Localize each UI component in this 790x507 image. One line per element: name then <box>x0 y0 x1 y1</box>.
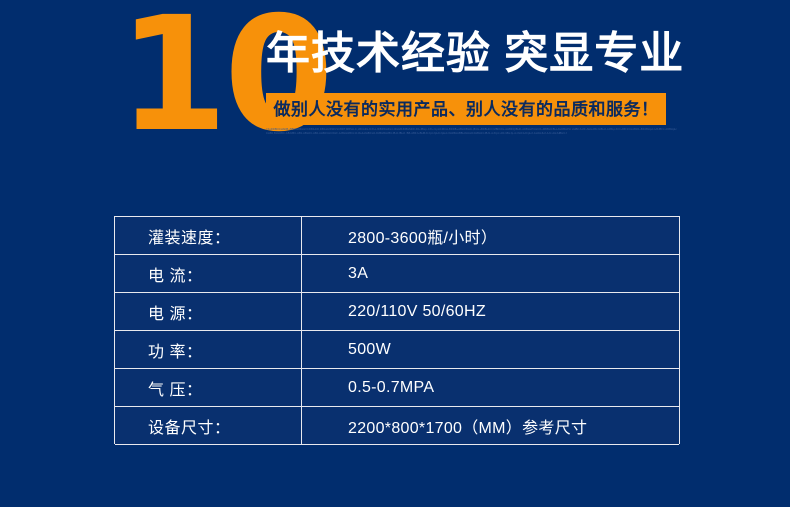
decorative-microtext: ClieDDBOCHADB+BBRADBHHVCDBIHOF,DBGHUDWUS… <box>266 128 678 144</box>
spec-value: 500W <box>302 331 679 368</box>
table-row: 功 率： 500W <box>115 331 679 369</box>
subtitle-text: 做别人没有的实用产品、别人没有的品质和服务！ <box>274 101 659 118</box>
spec-value: 220/110V 50/60HZ <box>302 293 679 330</box>
spec-value: 3A <box>302 255 679 292</box>
subtitle-banner: 做别人没有的实用产品、别人没有的品质和服务！ <box>266 93 666 125</box>
spec-table: 灌装速度： 2800-3600瓶/小时） 电 流： 3A 电 源： 220/11… <box>114 216 680 444</box>
table-row: 灌装速度： 2800-3600瓶/小时） <box>115 217 679 255</box>
spec-label: 灌装速度： <box>115 217 302 254</box>
table-row: 设备尺寸： 2200*800*1700（MM）参考尺寸 <box>115 407 679 445</box>
headline-text: 年技术经验 突显专业 <box>266 28 678 80</box>
spec-label: 设备尺寸： <box>115 407 302 444</box>
product-spec-banner: 10 年技术经验 突显专业 做别人没有的实用产品、别人没有的品质和服务！ Cli… <box>0 0 790 507</box>
spec-value: 2200*800*1700（MM）参考尺寸 <box>302 407 679 444</box>
table-row: 气 压： 0.5-0.7MPA <box>115 369 679 407</box>
spec-value: 2800-3600瓶/小时） <box>302 217 679 254</box>
spec-label: 功 率： <box>115 331 302 368</box>
hero-header: 10 年技术经验 突显专业 做别人没有的实用产品、别人没有的品质和服务！ Cli… <box>0 0 790 175</box>
table-row: 电 源： 220/110V 50/60HZ <box>115 293 679 331</box>
table-row: 电 流： 3A <box>115 255 679 293</box>
spec-value: 0.5-0.7MPA <box>302 369 679 406</box>
spec-label: 电 源： <box>115 293 302 330</box>
spec-label: 电 流： <box>115 255 302 292</box>
spec-label: 气 压： <box>115 369 302 406</box>
